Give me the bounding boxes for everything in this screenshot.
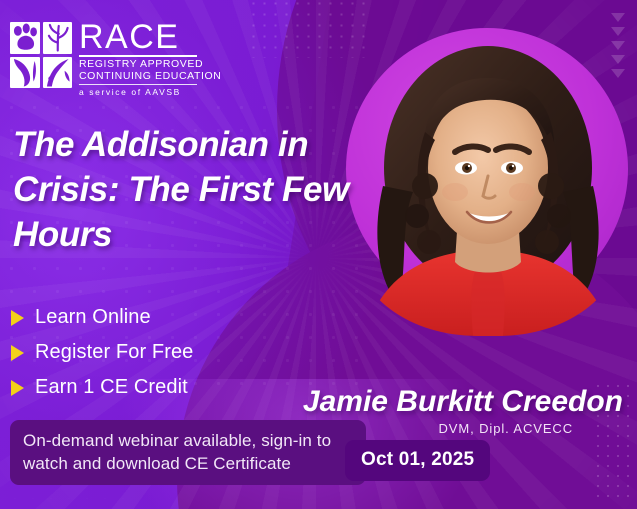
race-logo-wordmark: RACE REGISTRY APPROVED CONTINUING EDUCAT… [79,22,221,97]
horse-silhouette-icon [10,57,40,89]
chevron-down-icon [611,69,625,78]
feature-label: Register For Free [35,341,193,364]
paw-print-icon [10,22,40,54]
feature-label: Learn Online [35,306,151,329]
chevron-down-icon [611,27,625,36]
webinar-title: The Addisonian in Crisis: The First Few … [13,122,373,257]
speaker-name: Jamie Burkitt Creedon [303,385,623,419]
bird-silhouette-icon [43,57,73,89]
race-tagline-line1: REGISTRY APPROVED [79,59,221,71]
triangle-right-icon [11,380,24,396]
triangle-right-icon [11,310,24,326]
list-item: Register For Free [11,335,193,370]
chevron-down-icon [611,55,625,64]
list-item: Earn 1 CE Credit [11,370,193,405]
chevron-down-decoration [611,13,625,78]
speaker-photo [355,36,621,336]
list-item: Learn Online [11,300,193,335]
logo-divider-thin [79,84,197,85]
race-service-line: a service of AAVSB [79,87,221,97]
triangle-right-icon [11,345,24,361]
chevron-down-icon [611,13,625,22]
race-logo-mark [10,22,72,88]
plant-sprig-icon [43,22,73,54]
feature-list: Learn Online Register For Free Earn 1 CE… [11,300,193,405]
race-brand-text: RACE [79,22,221,52]
webinar-promo-banner: RACE REGISTRY APPROVED CONTINUING EDUCAT… [0,0,637,509]
dot-pattern-top [248,0,370,58]
race-logo: RACE REGISTRY APPROVED CONTINUING EDUCAT… [10,22,221,97]
event-date-badge: Oct 01, 2025 [345,440,490,481]
speaker-credentials: DVM, Dipl. ACVECC [439,421,574,436]
on-demand-note: On-demand webinar available, sign-in to … [10,420,366,485]
race-tagline-line2: CONTINUING EDUCATION [79,71,221,83]
feature-label: Earn 1 CE Credit [35,376,188,399]
chevron-down-icon [611,41,625,50]
